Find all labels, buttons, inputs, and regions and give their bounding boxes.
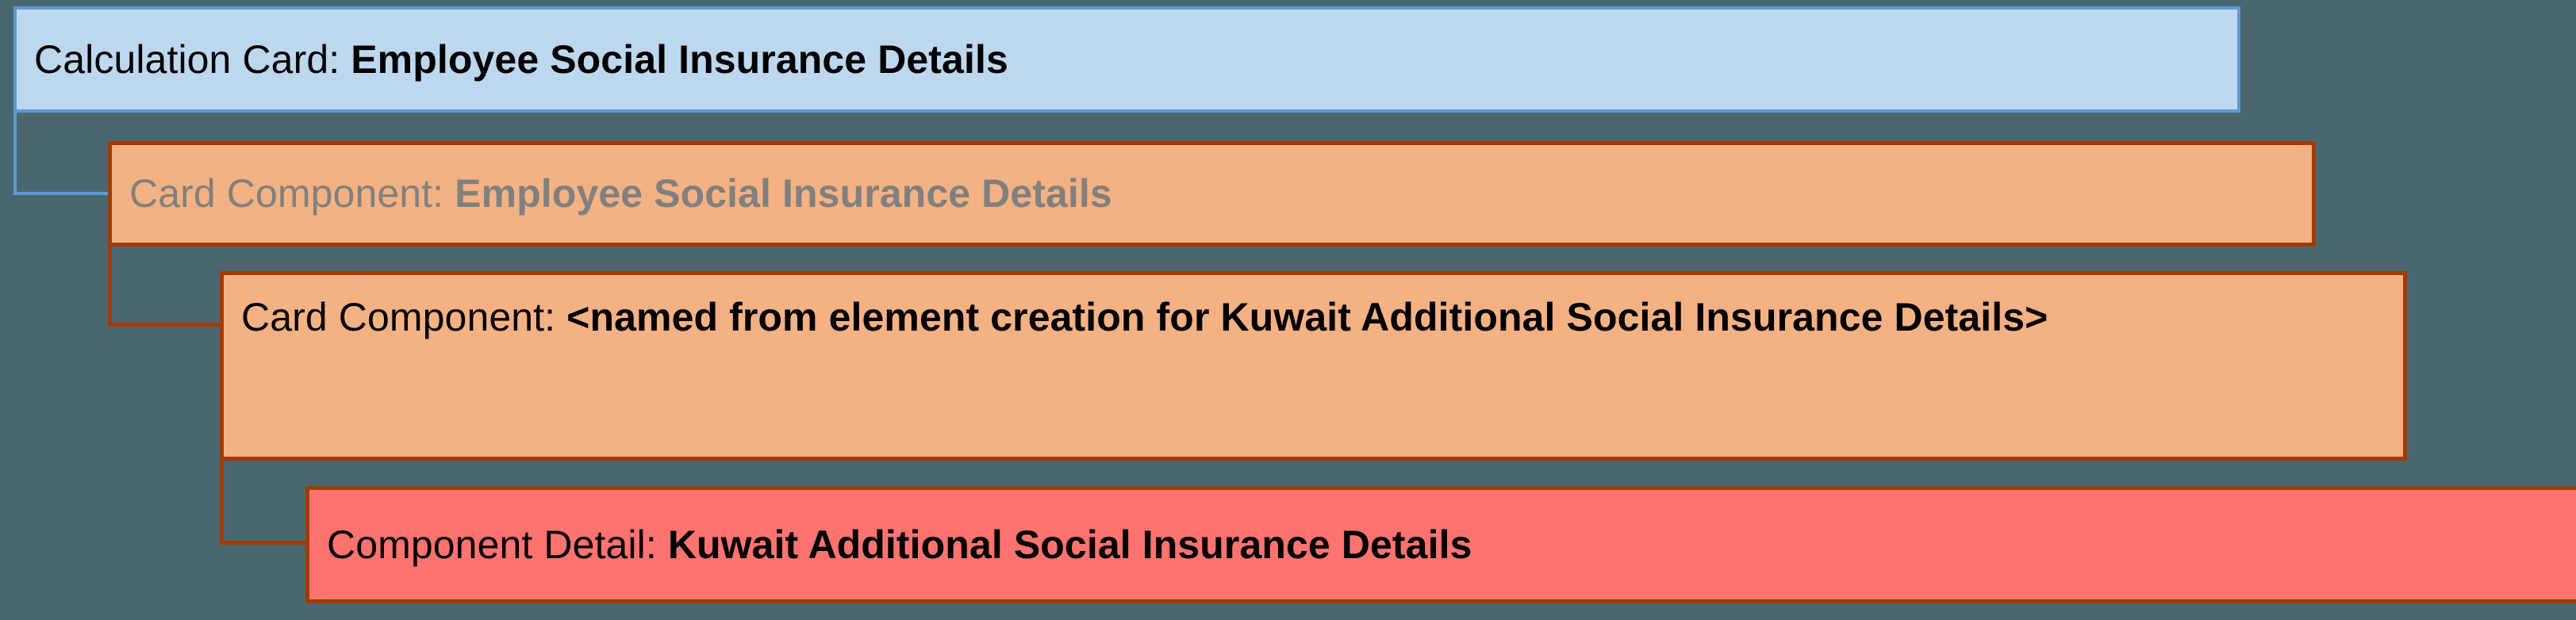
connector-card1-to-card2 xyxy=(108,242,224,327)
node-card-component-employee-label: Card Component: Employee Social Insuranc… xyxy=(129,169,1112,219)
connector-calc-to-card1 xyxy=(13,109,110,195)
node-card-component-named[interactable]: Card Component: <named from element crea… xyxy=(220,271,2407,461)
diagram-canvas: Calculation Card: Employee Social Insura… xyxy=(0,0,2576,620)
node-component-detail-label: Component Detail: Kuwait Additional Soci… xyxy=(327,520,1472,570)
node-component-detail-name: Kuwait Additional Social Insurance Detai… xyxy=(668,522,1472,567)
connector-card2-to-detail xyxy=(220,457,309,545)
node-calculation-card-prefix: Calculation Card: xyxy=(34,37,351,82)
node-calculation-card[interactable]: Calculation Card: Employee Social Insura… xyxy=(13,6,2240,113)
node-card-component-employee-name: Employee Social Insurance Details xyxy=(455,171,1112,216)
node-card-component-named-prefix: Card Component: xyxy=(241,295,566,339)
node-component-detail[interactable]: Component Detail: Kuwait Additional Soci… xyxy=(305,486,2576,603)
node-calculation-card-name: Employee Social Insurance Details xyxy=(351,37,1008,82)
node-card-component-named-name: <named from element creation for Kuwait … xyxy=(566,295,2048,339)
node-card-component-employee[interactable]: Card Component: Employee Social Insuranc… xyxy=(108,141,2316,247)
node-component-detail-prefix: Component Detail: xyxy=(327,522,668,567)
node-card-component-employee-prefix: Card Component: xyxy=(129,171,455,216)
node-calculation-card-label: Calculation Card: Employee Social Insura… xyxy=(34,35,1008,85)
node-card-component-named-label: Card Component: <named from element crea… xyxy=(241,293,2048,343)
